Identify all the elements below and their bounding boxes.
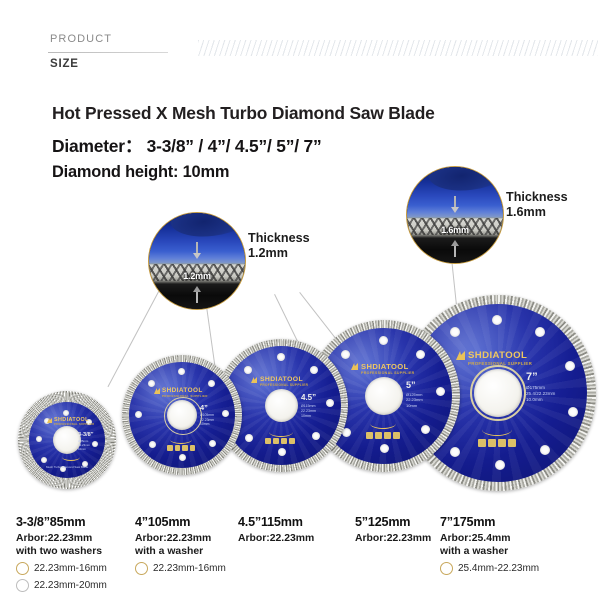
washer-ring-icon	[16, 579, 29, 592]
callout-thickness-1-6: 1.6mm	[406, 166, 504, 264]
spec-arbor: Arbor:22.23mm with a washer	[135, 532, 226, 558]
cooling-hole	[450, 447, 460, 457]
product-spec-image: PRODUCT SIZE Hot Pressed X Mesh Turbo Di…	[0, 0, 600, 600]
dimension-stem	[454, 196, 456, 208]
washer-option[interactable]: 25.4mm-22.23mm	[440, 562, 539, 575]
cooling-hole	[568, 407, 578, 417]
cooling-hole	[277, 353, 285, 361]
smile-arc	[482, 423, 512, 436]
spec-arbor: Arbor:22.23mm	[238, 532, 314, 545]
cooling-hole	[222, 410, 229, 417]
spec-column-4: 4”105mm Arbor:22.23mm with a washer 22.2…	[135, 515, 226, 575]
brand-name: SHDIATOOL PROFESSIONAL SUPPLIER	[162, 387, 208, 398]
smile-arc	[370, 418, 396, 429]
cooling-hole	[565, 361, 575, 371]
cooling-hole	[495, 460, 505, 470]
callout-label-1-6: Thickness1.6mm	[506, 190, 568, 220]
cooling-hole	[135, 411, 142, 418]
cooling-hole	[149, 441, 156, 448]
dimension-stem	[454, 246, 456, 258]
arbor-ring	[164, 397, 202, 435]
cooling-hole	[535, 327, 545, 337]
callout-label-1-2: Thickness1.2mm	[248, 231, 310, 261]
spec-size: 5”125mm	[355, 515, 431, 529]
header-divider	[48, 52, 168, 53]
spec-size: 4.5”115mm	[238, 515, 314, 529]
blade-size-mark: 4.5”	[301, 393, 316, 402]
spec-column-7: 7”175mm Arbor:25.4mm with a washer 25.4m…	[440, 515, 539, 575]
blade-size-mark: 7”	[526, 371, 538, 383]
cooling-hole	[208, 380, 215, 387]
spec-size: 4”105mm	[135, 515, 226, 529]
cooling-hole	[421, 425, 430, 434]
callout-magnified-view: 1.2mm	[149, 213, 245, 309]
blade-face-specs: Ø85mm 22.23mm 10mm	[78, 440, 90, 452]
dimension-stem	[196, 242, 198, 254]
smile-arc	[62, 453, 80, 461]
dimension-arrow-down	[193, 253, 201, 259]
washer-option[interactable]: 22.23mm-16mm	[16, 562, 107, 575]
cooling-hole	[92, 441, 98, 447]
washer-option-label: 25.4mm-22.23mm	[458, 563, 539, 574]
washer-option-label: 22.23mm-16mm	[34, 563, 107, 574]
cooling-hole	[244, 366, 252, 374]
spec-column-4-5: 4.5”115mm Arbor:22.23mm	[238, 515, 314, 545]
washer-option-label: 22.23mm-16mm	[153, 563, 226, 574]
blade-face-specs: Ø115mm 22.23mm 10mm	[301, 404, 316, 419]
cooling-hole	[380, 444, 389, 453]
cooling-hole	[436, 387, 445, 396]
cooling-hole	[379, 336, 388, 345]
blade-4: SHDIATOOL PROFESSIONAL SUPPLIER 4” Ø105m…	[122, 355, 242, 475]
brand-name: SHDIATOOL PROFESSIONAL SUPPLIER	[260, 376, 308, 387]
cooling-hole	[148, 380, 155, 387]
diameter-line: Diameter： 3-3/8” / 4”/ 4.5”/ 5”/ 7”	[52, 133, 321, 158]
washer-ring-icon	[16, 562, 29, 575]
cooling-hole	[179, 454, 186, 461]
smile-arc	[170, 435, 192, 444]
cooling-hole	[416, 350, 425, 359]
blade-face-specs: Ø125mm 22.23mm 10mm	[406, 392, 423, 408]
callout-thickness-1-2: 1.2mm	[148, 212, 246, 310]
cooling-hole	[63, 410, 69, 416]
cooling-hole	[209, 440, 216, 447]
brand-name: SHDIATOOL PROFESSIONAL SUPPLIER	[361, 362, 415, 375]
certification-row	[478, 439, 516, 447]
blade-3-3-8: SHDIATOOL PROFESSIONAL SUPPLIER 3-3/8” Ø…	[18, 391, 116, 489]
brand-name: SHDIATOOL PROFESSIONAL SUPPLIER	[468, 350, 532, 366]
blade-face-note: Mesh Turbo Diamond Saw Blade	[46, 465, 88, 469]
blade-face-specs: Ø175mm 25.4/22.23mm 10.0mm	[526, 385, 555, 404]
brand-name: SHDIATOOL PROFESSIONAL SUPPLIER	[54, 417, 94, 426]
cooling-hole	[341, 350, 350, 359]
certification-row	[167, 445, 195, 451]
spec-size: 7”175mm	[440, 515, 539, 529]
product-title: Hot Pressed X Mesh Turbo Diamond Saw Bla…	[52, 103, 435, 124]
header-size-label: SIZE	[50, 58, 79, 70]
cooling-hole	[245, 434, 253, 442]
cooling-hole	[326, 399, 334, 407]
certification-row	[265, 438, 295, 444]
spec-arbor: Arbor:22.23mm with two washers	[16, 532, 107, 558]
diamond-height-line: Diamond height: 10mm	[52, 163, 229, 182]
washer-option-label: 22.23mm-20mm	[34, 580, 107, 591]
arbor-hole	[53, 426, 81, 454]
certification-row	[366, 432, 400, 439]
callout-dimension: 1.2mm	[149, 271, 245, 281]
cooling-hole	[178, 368, 185, 375]
washer-ring-icon	[135, 562, 148, 575]
arbor-hole	[365, 377, 403, 415]
cooling-hole	[310, 366, 318, 374]
cooling-hole	[450, 327, 460, 337]
callout-magnified-view: 1.6mm	[407, 167, 503, 263]
cooling-hole	[312, 432, 320, 440]
spec-arbor: Arbor:25.4mm with a washer	[440, 532, 539, 558]
spec-column-5: 5”125mm Arbor:22.23mm	[355, 515, 431, 545]
callout-dimension: 1.6mm	[407, 225, 503, 235]
arbor-hole	[265, 389, 298, 422]
cooling-hole	[41, 457, 47, 463]
cooling-hole	[540, 445, 550, 455]
spec-size: 3-3/8”85mm	[16, 515, 107, 529]
blade-size-mark: 4”	[200, 403, 208, 412]
blade-size-mark: 3-3/8”	[78, 432, 94, 438]
blade-size-mark: 5”	[406, 380, 416, 390]
cooling-hole	[278, 448, 286, 456]
smile-arc	[269, 427, 293, 437]
cooling-hole	[36, 436, 42, 442]
washer-option[interactable]: 22.23mm-16mm	[135, 562, 226, 575]
dimension-stem	[196, 292, 198, 304]
dimension-arrow-down	[451, 207, 459, 213]
header-product-label: PRODUCT	[50, 33, 112, 45]
header-hatch-pattern	[198, 40, 598, 56]
washer-option[interactable]: 22.23mm-20mm	[16, 579, 107, 592]
spec-arbor: Arbor:22.23mm	[355, 532, 431, 545]
arbor-ring	[470, 365, 526, 421]
cooling-hole	[492, 315, 502, 325]
blade-face-specs: Ø105mm 22.23mm 10mm	[200, 413, 214, 427]
washer-ring-icon	[440, 562, 453, 575]
spec-column-3-3-8: 3-3/8”85mm Arbor:22.23mm with two washer…	[16, 515, 107, 592]
